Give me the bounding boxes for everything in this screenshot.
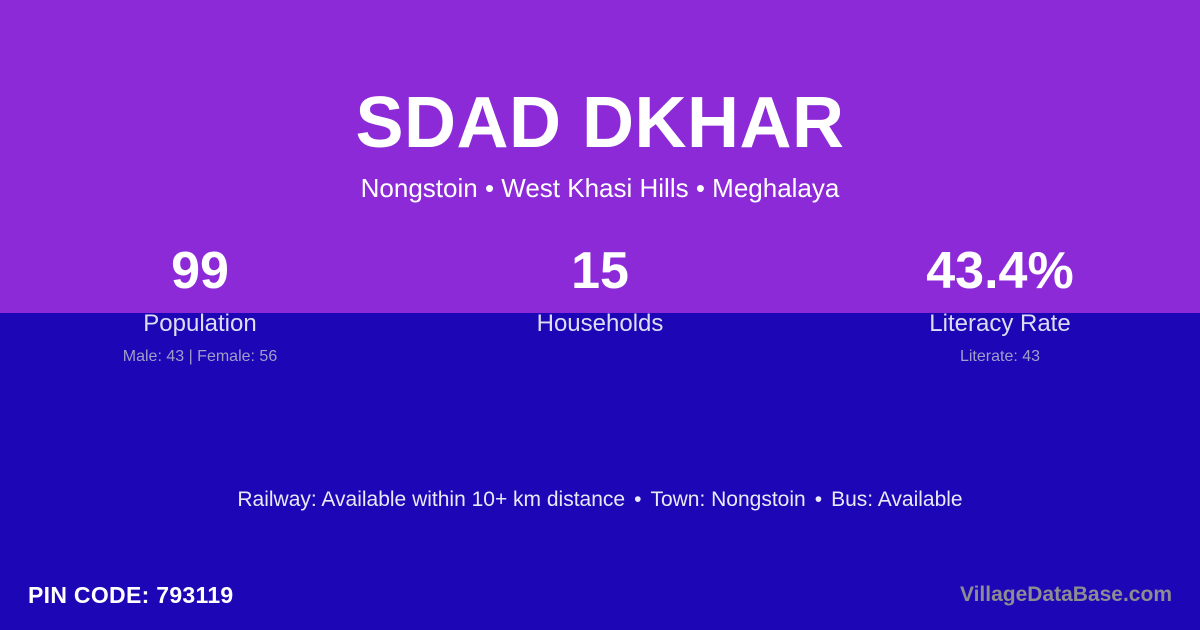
amenity-separator-2: • <box>806 488 831 511</box>
card-header: SDAD DKHAR Nongstoin • West Khasi Hills … <box>0 0 1200 204</box>
village-info-card: SDAD DKHAR Nongstoin • West Khasi Hills … <box>0 0 1200 630</box>
stat-population-label: Population <box>0 310 400 338</box>
stat-households-breakdown <box>400 347 800 366</box>
card-footer: PIN CODE: 793119 VillageDataBase.com <box>0 560 1200 630</box>
stat-literacy-rate-value: 43.4% <box>800 240 1200 302</box>
stat-households: 15 Households <box>400 240 800 366</box>
stat-literacy-rate: 43.4% Literacy Rate Literate: 43 <box>800 240 1200 366</box>
stat-literacy-rate-breakdown: Literate: 43 <box>800 347 1200 366</box>
amenity-railway: Railway: Available within 10+ km distanc… <box>237 488 625 511</box>
stat-literacy-rate-label: Literacy Rate <box>800 310 1200 338</box>
stat-households-label: Households <box>400 310 800 338</box>
stat-population-breakdown: Male: 43 | Female: 56 <box>0 347 400 366</box>
breadcrumb: Nongstoin • West Khasi Hills • Meghalaya <box>0 166 1200 204</box>
stat-population-value: 99 <box>0 240 400 302</box>
amenity-separator-1: • <box>625 488 650 511</box>
stats-row: 99 Population Male: 43 | Female: 56 15 H… <box>0 240 1200 366</box>
page-title: SDAD DKHAR <box>0 0 1200 166</box>
brand-watermark: VillageDataBase.com <box>960 582 1172 608</box>
pin-code: PIN CODE: 793119 <box>28 581 234 609</box>
stat-population: 99 Population Male: 43 | Female: 56 <box>0 240 400 366</box>
amenity-town: Town: Nongstoin <box>650 488 805 511</box>
amenity-bus: Bus: Available <box>831 488 963 511</box>
stat-households-value: 15 <box>400 240 800 302</box>
amenities-line: Railway: Available within 10+ km distanc… <box>0 487 1200 513</box>
